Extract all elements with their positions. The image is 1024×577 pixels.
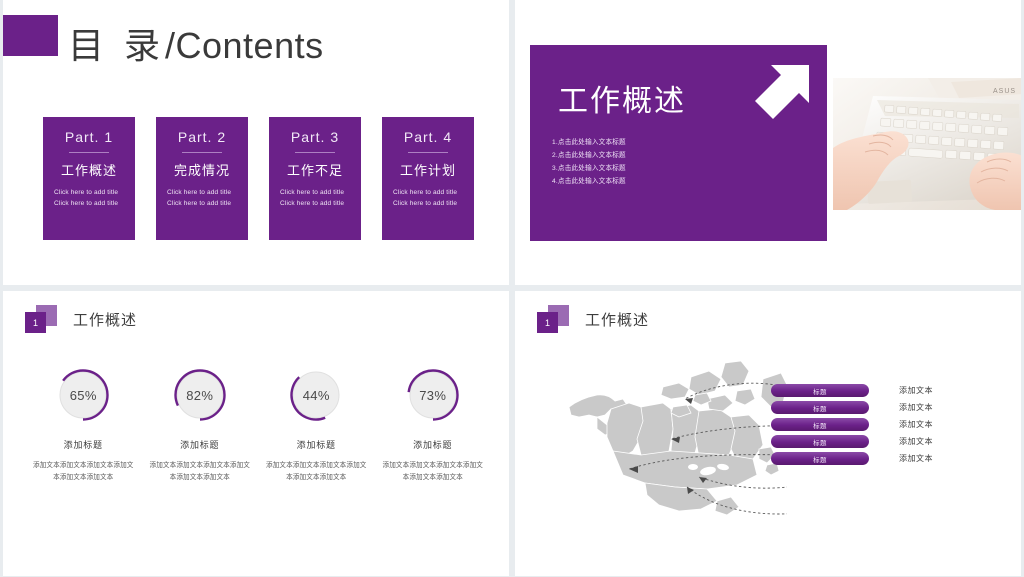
section-bullet: 2.点击此处输入文本标题 (552, 150, 626, 163)
map-callout-row[interactable]: 标题 添加文本 (771, 418, 933, 431)
slide-thumbnail-grid: 目 录/Contents Part. 1 工作概述 Click here to … (0, 0, 1024, 577)
section-number-badge: 1 (25, 305, 57, 333)
donut-item[interactable]: 82% 添加标题 添加文本添加文本添加文本添加文本添加文本添加文本 (144, 367, 256, 484)
toc-card-part: Part. 4 (393, 129, 463, 145)
badge-front-square: 1 (25, 312, 46, 333)
map-callout-row[interactable]: 标题 添加文本 (771, 384, 933, 397)
map-callout-pill[interactable]: 标题 (771, 401, 869, 414)
map-callout-list: 标题 添加文本 标题 添加文本 标题 添加文本 标题 添加文本 标题 添加文本 (771, 384, 933, 465)
arrow-up-right-icon (747, 57, 817, 127)
map-callout-pill[interactable]: 标题 (771, 418, 869, 431)
laptop-typing-photo: ASUS (833, 78, 1021, 210)
donut-chart: 65% (55, 367, 111, 423)
donut-value: 65% (55, 367, 111, 423)
toc-card[interactable]: Part. 3 工作不足 Click here to add title Cli… (269, 117, 361, 240)
toc-card-body: Click here to add title Click here to ad… (393, 187, 463, 210)
svg-text:ASUS: ASUS (993, 88, 1016, 95)
donut-chart: 82% (172, 367, 228, 423)
donut-description: 添加文本添加文本添加文本添加文本添加文本添加文本 (144, 460, 256, 484)
map-callout-row[interactable]: 标题 添加文本 (771, 452, 933, 465)
badge-front-square: 1 (537, 312, 558, 333)
toc-card[interactable]: Part. 1 工作概述 Click here to add title Cli… (43, 117, 135, 240)
toc-card-body: Click here to add title Click here to ad… (167, 187, 237, 210)
section-bullet: 1.点击此处输入文本标题 (552, 137, 626, 150)
donut-item[interactable]: 44% 添加标题 添加文本添加文本添加文本添加文本添加文本添加文本 (260, 367, 372, 484)
slide-header: 1 工作概述 (537, 305, 649, 333)
toc-card-heading: 工作不足 (280, 160, 350, 179)
toc-card-list: Part. 1 工作概述 Click here to add title Cli… (43, 117, 474, 240)
donut-title: 添加标题 (144, 438, 256, 451)
divider (408, 152, 448, 153)
section-bullet-list: 1.点击此处输入文本标题 2.点击此处输入文本标题 3.点击此处输入文本标题 4… (552, 137, 626, 188)
map-callout-note: 添加文本 (899, 453, 933, 464)
donut-value: 44% (288, 367, 344, 423)
north-america-map (567, 359, 787, 519)
toc-card-part: Part. 3 (280, 129, 350, 145)
map-callout-pill[interactable]: 标题 (771, 452, 869, 465)
donut-description: 添加文本添加文本添加文本添加文本添加文本添加文本 (27, 460, 139, 484)
donut-chart: 44% (288, 367, 344, 423)
toc-card[interactable]: Part. 4 工作计划 Click here to add title Cli… (382, 117, 474, 240)
donut-description: 添加文本添加文本添加文本添加文本添加文本添加文本 (260, 460, 372, 484)
section-title: 工作概述 (558, 76, 686, 120)
map-callout-pill[interactable]: 标题 (771, 435, 869, 448)
slide-section-divider[interactable]: 工作概述 1.点击此处输入文本标题 2.点击此处输入文本标题 3.点击此处输入文… (515, 0, 1021, 285)
section-bullet: 4.点击此处输入文本标题 (552, 176, 626, 189)
donut-description: 添加文本添加文本添加文本添加文本添加文本添加文本 (377, 460, 489, 484)
toc-card[interactable]: Part. 2 完成情况 Click here to add title Cli… (156, 117, 248, 240)
toc-card-heading: 工作计划 (393, 160, 463, 179)
slide-donut-metrics[interactable]: 1 工作概述 65% 添加标题 添加文本添加文本添加文本添加文本添加文本添加文本 (3, 291, 509, 576)
map-callout-pill[interactable]: 标题 (771, 384, 869, 397)
slide-map-callouts[interactable]: 1 工作概述 (515, 291, 1021, 576)
page-title: 目 录/Contents (68, 17, 324, 69)
toc-card-heading: 完成情况 (167, 160, 237, 179)
map-callout-note: 添加文本 (899, 436, 933, 447)
section-part-marker: Part. 1 (942, 245, 1007, 279)
donut-value: 73% (405, 367, 461, 423)
divider (182, 152, 222, 153)
section-bullet: 3.点击此处输入文本标题 (552, 163, 626, 176)
donut-chart: 73% (405, 367, 461, 423)
slide-header-title: 工作概述 (73, 309, 137, 330)
donut-title: 添加标题 (260, 438, 372, 451)
donut-title: 添加标题 (377, 438, 489, 451)
toc-title-cn: 目 录 (68, 25, 165, 66)
section-number-badge: 1 (537, 305, 569, 333)
divider (295, 152, 335, 153)
donut-item[interactable]: 73% 添加标题 添加文本添加文本添加文本添加文本添加文本添加文本 (377, 367, 489, 484)
slide-header-title: 工作概述 (585, 309, 649, 330)
donut-item[interactable]: 65% 添加标题 添加文本添加文本添加文本添加文本添加文本添加文本 (27, 367, 139, 484)
map-callout-row[interactable]: 标题 添加文本 (771, 435, 933, 448)
donut-value: 82% (172, 367, 228, 423)
toc-accent-square (3, 15, 58, 56)
donut-title: 添加标题 (27, 438, 139, 451)
section-part-word: Part. (942, 260, 979, 279)
divider (69, 152, 109, 153)
slide-header: 1 工作概述 (25, 305, 137, 333)
map-callout-note: 添加文本 (899, 385, 933, 396)
section-part-number: 1 (979, 245, 1007, 279)
donut-chart-group: 65% 添加标题 添加文本添加文本添加文本添加文本添加文本添加文本 82% 添加… (25, 367, 491, 484)
toc-card-body: Click here to add title Click here to ad… (280, 187, 350, 210)
toc-card-heading: 工作概述 (54, 160, 124, 179)
toc-card-part: Part. 1 (54, 129, 124, 145)
slide-contents[interactable]: 目 录/Contents Part. 1 工作概述 Click here to … (3, 0, 509, 285)
toc-card-part: Part. 2 (167, 129, 237, 145)
toc-title-en: /Contents (165, 25, 324, 66)
map-callout-row[interactable]: 标题 添加文本 (771, 401, 933, 414)
map-callout-note: 添加文本 (899, 419, 933, 430)
toc-card-body: Click here to add title Click here to ad… (54, 187, 124, 210)
map-callout-note: 添加文本 (899, 402, 933, 413)
